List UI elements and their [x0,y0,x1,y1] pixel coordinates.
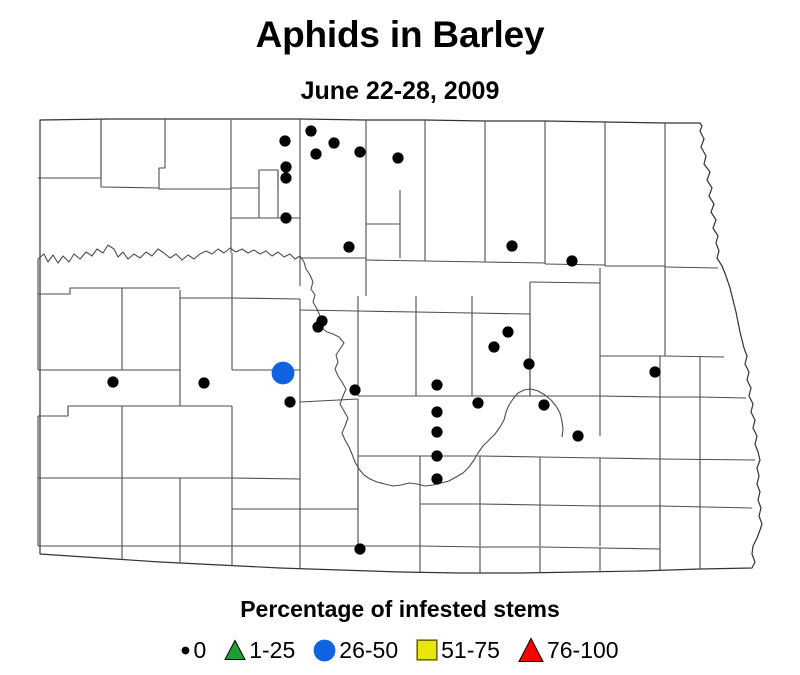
county-line [600,396,660,397]
data-point-layer[interactable] [108,126,660,554]
map-marker-small-black-circle[interactable] [539,400,549,410]
map-page: Aphids in Barley June 22-28, 2009 [0,0,800,675]
map-marker-small-black-circle[interactable] [432,474,442,484]
map-marker-small-black-circle[interactable] [507,241,517,251]
map-marker-small-black-circle[interactable] [355,544,365,554]
county-line [425,261,485,262]
county-line [159,119,165,189]
county-line [480,504,540,505]
map-marker-small-black-circle[interactable] [108,377,118,387]
legend-label: 0 [193,637,206,664]
map-marker-small-black-circle[interactable] [393,153,403,163]
county-line [416,312,472,313]
county-line [38,406,122,416]
map-marker-small-black-circle[interactable] [524,359,534,369]
red-triangle-icon [518,637,544,663]
page-subtitle: June 22-28, 2009 [0,77,800,106]
lake-sakakawea-shore [38,245,300,263]
map-marker-small-black-circle[interactable] [350,385,360,395]
map-marker-small-black-circle[interactable] [432,407,442,417]
map-marker-small-black-circle[interactable] [355,147,365,157]
map-marker-small-black-circle[interactable] [344,242,354,252]
county-line [660,459,755,460]
county-line [472,313,530,314]
legend-item-26-50: 26-50 [313,637,398,664]
map-marker-small-black-circle[interactable] [281,213,291,223]
map-marker-small-black-circle[interactable] [280,136,290,146]
county-line [122,370,180,478]
legend-item-1-25: 1-25 [224,637,295,664]
map-marker-small-black-circle[interactable] [573,431,583,441]
county-line [700,397,746,398]
county-line [665,356,724,357]
county-line [540,457,600,458]
map-marker-small-black-circle[interactable] [306,126,316,136]
county-line [530,282,600,283]
county-line [232,478,300,479]
map-marker-small-black-circle[interactable] [432,380,442,390]
county-line [366,224,400,258]
blue-circle-icon [313,639,336,662]
map-marker-small-black-circle[interactable] [432,427,442,437]
map-marker-small-black-circle[interactable] [650,367,660,377]
map-marker-small-black-circle[interactable] [473,398,483,408]
yellow-square-icon [416,639,438,661]
county-line [485,262,545,263]
map-marker-blue-circle[interactable] [272,362,294,384]
county-line [231,170,278,188]
county-line [101,187,159,188]
county-line [300,310,358,396]
county-line [480,456,540,457]
legend-item-0: 0 [181,637,206,664]
map-marker-small-black-circle[interactable] [281,173,291,183]
county-line [420,546,480,547]
map-marker-small-black-circle[interactable] [281,162,291,172]
legend-label: 51-75 [441,637,500,664]
county-line [300,399,358,402]
county-boundaries [38,119,762,573]
map-marker-small-black-circle[interactable] [567,256,577,266]
map-marker-small-black-circle[interactable] [311,149,321,159]
north-dakota-county-map[interactable] [0,106,800,586]
map-marker-small-black-circle[interactable] [285,397,295,407]
map-marker-small-black-circle[interactable] [432,451,442,461]
green-triangle-icon [224,639,246,661]
county-line [366,260,425,261]
county-line [660,506,752,508]
county-line [600,458,660,459]
legend-label: 26-50 [339,637,398,664]
legend-item-76-100: 76-100 [518,637,619,664]
map-container[interactable] [0,106,800,586]
legend: 01-2526-5051-7576-100 [0,630,800,670]
map-marker-small-black-circle[interactable] [329,138,339,148]
page-title: Aphids in Barley [0,14,800,56]
missouri-river [300,256,563,486]
small-black-circle-icon [181,646,190,655]
map-marker-small-black-circle[interactable] [489,342,499,352]
legend-label: 76-100 [547,637,619,664]
county-line [540,505,600,506]
map-marker-small-black-circle[interactable] [313,322,323,332]
county-line [180,253,232,298]
county-line [358,311,416,312]
county-line [540,547,600,548]
legend-label: 1-25 [249,637,295,664]
state-outline [40,119,762,573]
county-line [38,288,122,294]
county-line [232,298,300,299]
map-marker-small-black-circle[interactable] [199,378,209,388]
county-line [600,548,660,549]
county-line [665,267,718,268]
map-marker-small-black-circle[interactable] [503,327,513,337]
legend-title: Percentage of infested stems [0,596,800,623]
legend-item-51-75: 51-75 [416,637,500,664]
